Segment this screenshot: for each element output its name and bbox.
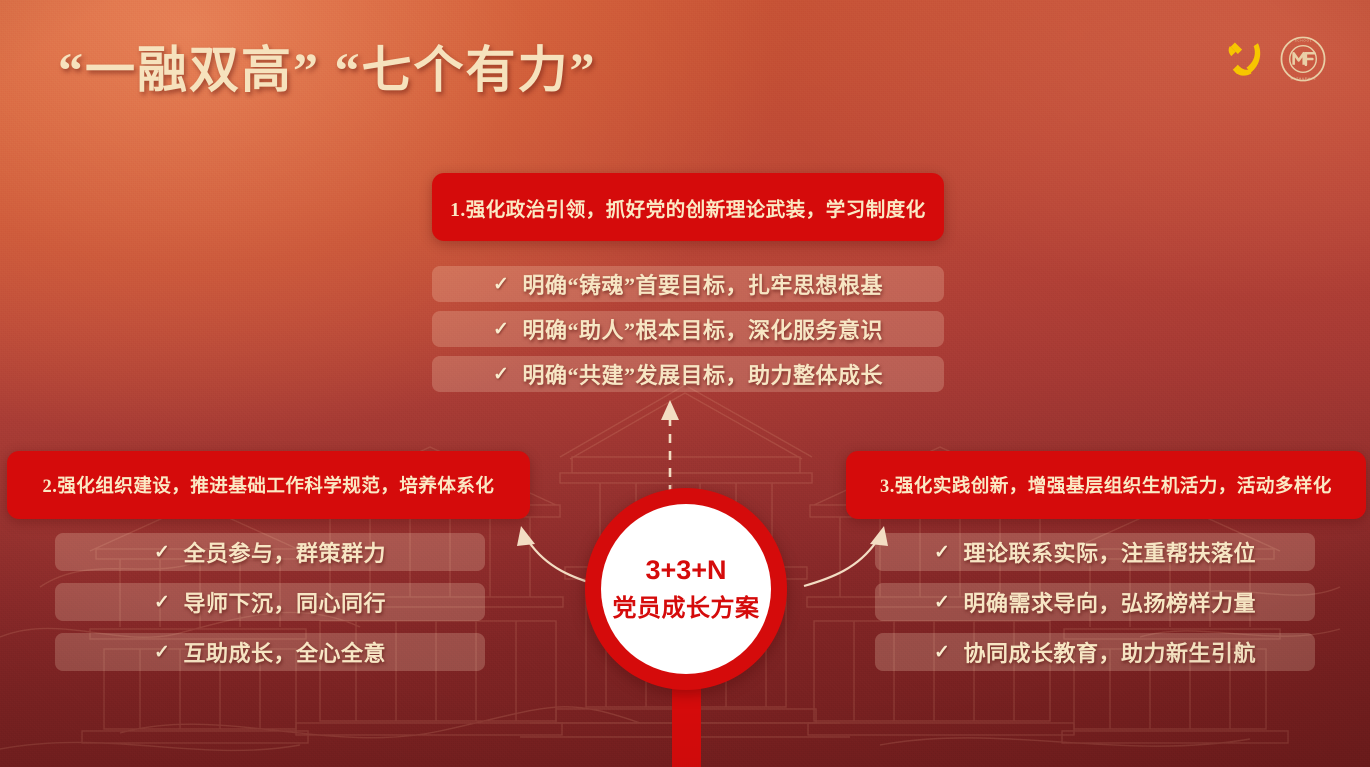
list-item[interactable]: ✓ 明确“铸魂”首要目标，扎牢思想根基 (432, 266, 944, 302)
list-item-label: 理论联系实际，注重帮扶落位 (963, 536, 1256, 568)
section-3-items: ✓ 理论联系实际，注重帮扶落位 ✓ 明确需求导向，弘扬榜样力量 ✓ 协同成长教育… (875, 533, 1315, 683)
section-2-header[interactable]: 2.强化组织建设，推进基础工作科学规范，培养体系化 (7, 451, 530, 519)
check-icon: ✓ (154, 643, 170, 662)
list-item-label: 明确“铸魂”首要目标，扎牢思想根基 (522, 268, 883, 300)
section-1-items: ✓ 明确“铸魂”首要目标，扎牢思想根基 ✓ 明确“助人”根本目标，深化服务意识 … (432, 266, 944, 401)
check-icon: ✓ (493, 365, 509, 384)
list-item[interactable]: ✓ 明确“共建”发展目标，助力整体成长 (432, 356, 944, 392)
svg-text:S C H O O L: S C H O O L (1295, 38, 1312, 42)
list-item-label: 互助成长，全心全意 (183, 636, 386, 668)
star-watermark (1055, 8, 1095, 48)
magnifier-ring: 3+3+N 党员成长方案 (585, 488, 787, 690)
center-title-line1: 3+3+N (645, 555, 726, 586)
section-3-header[interactable]: 3.强化实践创新，增强基层组织生机活力，活动多样化 (846, 451, 1366, 519)
check-icon: ✓ (934, 543, 950, 562)
check-icon: ✓ (934, 593, 950, 612)
magnifier-content: 3+3+N 党员成长方案 (601, 504, 771, 674)
svg-text:M A T H & P H Y S: M A T H & P H Y S (1291, 76, 1316, 80)
list-item-label: 明确“助人”根本目标，深化服务意识 (522, 313, 883, 345)
list-item[interactable]: ✓ 互助成长，全心全意 (55, 633, 485, 671)
hammer-and-sickle-icon (1222, 36, 1268, 82)
page-title: “一融双高” “七个有力” (58, 30, 597, 102)
list-item[interactable]: ✓ 理论联系实际，注重帮扶落位 (875, 533, 1315, 571)
slide-canvas: “一融双高” “七个有力” S C H O O L M A T H & P H … (0, 0, 1370, 767)
list-item-label: 协同成长教育，助力新生引航 (963, 636, 1256, 668)
list-item[interactable]: ✓ 全员参与，群策群力 (55, 533, 485, 571)
center-magnifier[interactable]: 3+3+N 党员成长方案 (553, 488, 819, 767)
list-item-label: 明确“共建”发展目标，助力整体成长 (522, 358, 883, 390)
check-icon: ✓ (154, 543, 170, 562)
check-icon: ✓ (493, 275, 509, 294)
logo-group: S C H O O L M A T H & P H Y S (1222, 36, 1326, 82)
check-icon: ✓ (934, 643, 950, 662)
list-item-label: 全员参与，群策群力 (183, 536, 386, 568)
list-item[interactable]: ✓ 协同成长教育，助力新生引航 (875, 633, 1315, 671)
list-item-label: 导师下沉，同心同行 (183, 586, 386, 618)
list-item[interactable]: ✓ 导师下沉，同心同行 (55, 583, 485, 621)
list-item-label: 明确需求导向，弘扬榜样力量 (963, 586, 1256, 618)
section-1-header[interactable]: 1.强化政治引领，抓好党的创新理论武装，学习制度化 (432, 173, 944, 241)
list-item[interactable]: ✓ 明确“助人”根本目标，深化服务意识 (432, 311, 944, 347)
arrow-up-icon (648, 398, 692, 496)
check-icon: ✓ (493, 320, 509, 339)
school-logo-icon: S C H O O L M A T H & P H Y S (1280, 36, 1326, 82)
section-2-items: ✓ 全员参与，群策群力 ✓ 导师下沉，同心同行 ✓ 互助成长，全心全意 (55, 533, 485, 683)
center-title-line2: 党员成长方案 (613, 588, 760, 623)
list-item[interactable]: ✓ 明确需求导向，弘扬榜样力量 (875, 583, 1315, 621)
check-icon: ✓ (154, 593, 170, 612)
